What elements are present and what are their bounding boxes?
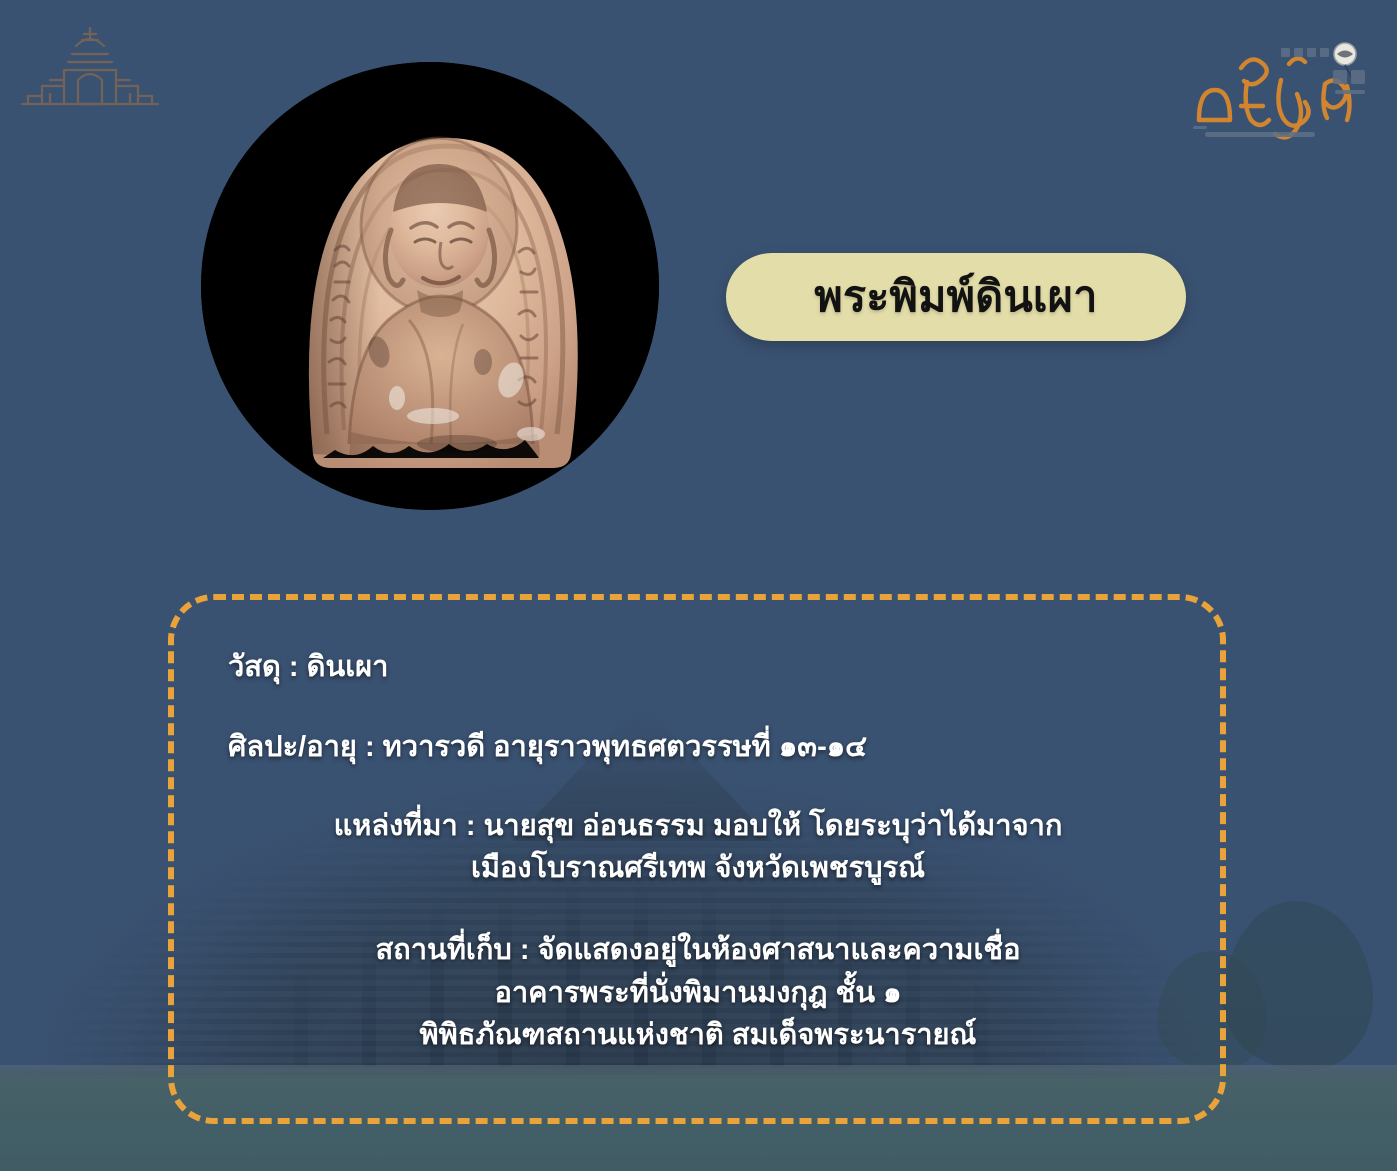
page-title-pill: พระพิมพ์ดินเผา [726,253,1186,341]
info-location-line-3: พิพิธภัณฑสถานแห่งชาติ สมเด็จพระนารายณ์ [224,1014,1172,1056]
info-group-provenance: แหล่งที่มา : นายสุข อ่อนธรรม มอบให้ โดยร… [224,805,1172,890]
info-group-location: สถานที่เก็บ : จัดแสดงอยู่ในห้องศาสนาและค… [224,929,1172,1056]
info-style-age: ศิลปะ/อายุ : ทวารวดี อายุราวพุทธศตวรรษที… [224,726,1172,768]
artifact-photo [201,62,659,510]
info-group-style-age: ศิลปะ/อายุ : ทวารวดี อายุราวพุทธศตวรรษที… [224,726,1172,768]
info-material: วัสดุ : ดินเผา [224,646,1172,688]
prang-temple-watermark-icon [20,24,160,106]
poster-stage: พระพิมพ์ดินเผา วัสดุ : ดินเผา ศิลปะ/อายุ… [0,0,1397,1171]
sithep-logo [1185,34,1375,146]
info-location-line-1: สถานที่เก็บ : จัดแสดงอยู่ในห้องศาสนาและค… [224,929,1172,971]
info-location-line-2: อาคารพระที่นั่งพิมานมงกุฎ ชั้น ๑ [224,972,1172,1014]
info-provenance-line-1: แหล่งที่มา : นายสุข อ่อนธรรม มอบให้ โดยร… [224,805,1172,847]
info-provenance-line-2: เมืองโบราณศรีเทพ จังหวัดเพชรบูรณ์ [224,847,1172,889]
artifact-info-card: วัสดุ : ดินเผา ศิลปะ/อายุ : ทวารวดี อายุ… [168,594,1226,1124]
info-group-material: วัสดุ : ดินเผา [224,646,1172,688]
page-title: พระพิมพ์ดินเผา [814,276,1097,319]
